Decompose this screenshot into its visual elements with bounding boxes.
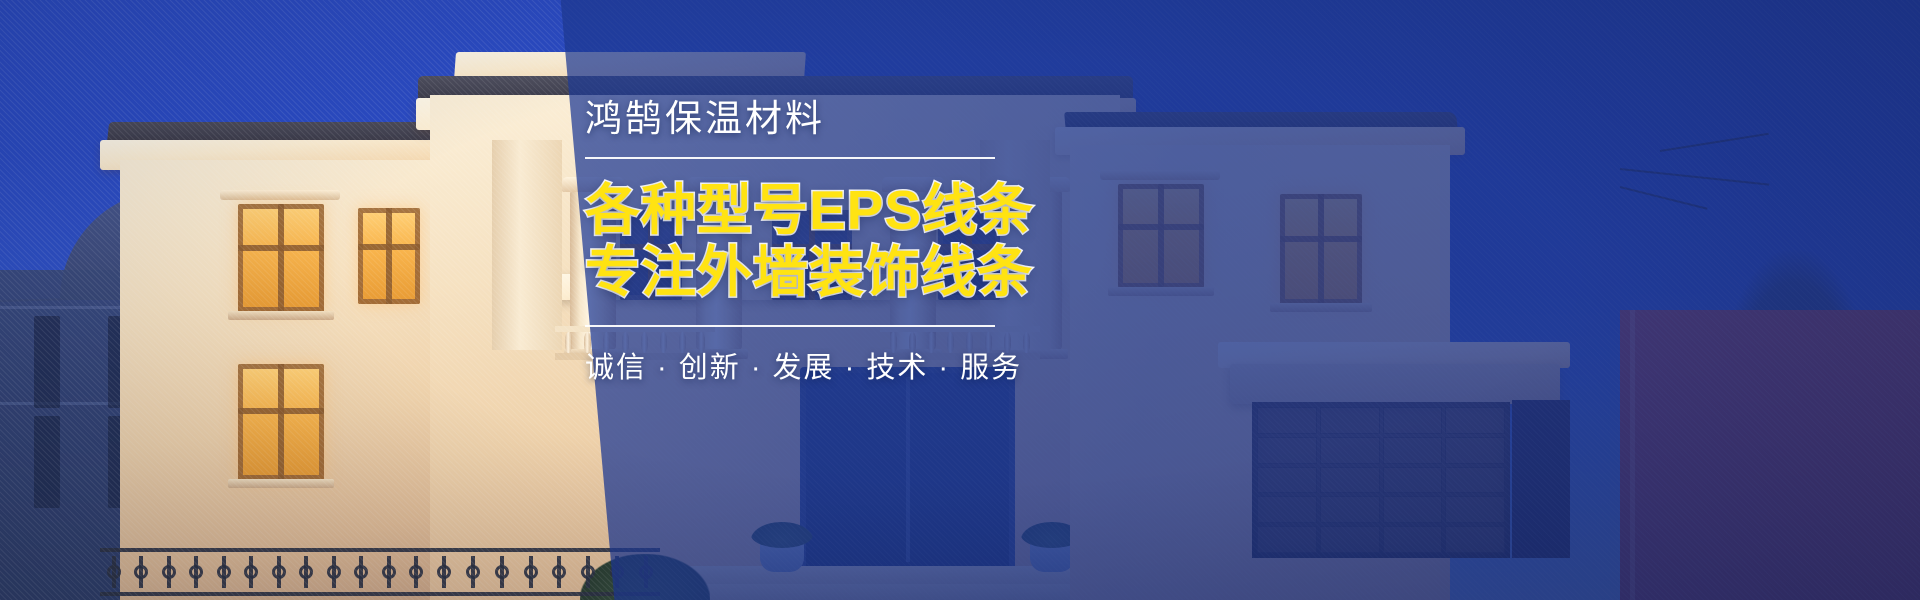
banner-copy: 鸿鹄保温材料 各种型号EPS线条 专注外墙装饰线条 诚信 · 创新 · 发展 ·… bbox=[585, 96, 1015, 386]
headline-line-2: 专注外墙装饰线条 bbox=[585, 242, 1015, 304]
garage-door bbox=[1252, 402, 1510, 558]
window-lit bbox=[238, 364, 324, 480]
divider-top bbox=[585, 157, 995, 159]
iron-railing bbox=[100, 548, 430, 596]
headline: 各种型号EPS线条 专注外墙装饰线条 bbox=[585, 180, 1015, 303]
window-lit bbox=[1280, 194, 1362, 304]
planter bbox=[760, 542, 804, 572]
headline-line-1: 各种型号EPS线条 bbox=[585, 179, 1034, 241]
tagline: 诚信 · 创新 · 发展 · 技术 · 服务 bbox=[585, 344, 1015, 386]
garage-lintel bbox=[1230, 364, 1560, 404]
pilaster bbox=[492, 140, 562, 350]
brand-name: 鸿鹄保温材料 bbox=[585, 96, 1015, 141]
garage-opening bbox=[1512, 400, 1570, 558]
window-lit bbox=[1118, 184, 1204, 288]
planter bbox=[1030, 542, 1074, 572]
hero-banner: 鸿鹄保温材料 各种型号EPS线条 专注外墙装饰线条 诚信 · 创新 · 发展 ·… bbox=[0, 0, 1920, 600]
iron-railing bbox=[430, 548, 660, 596]
window-lit bbox=[238, 204, 324, 312]
red-structure bbox=[1620, 310, 1920, 600]
window-lit bbox=[358, 208, 420, 304]
divider-bottom bbox=[585, 325, 995, 327]
entrance-door bbox=[800, 367, 1015, 572]
